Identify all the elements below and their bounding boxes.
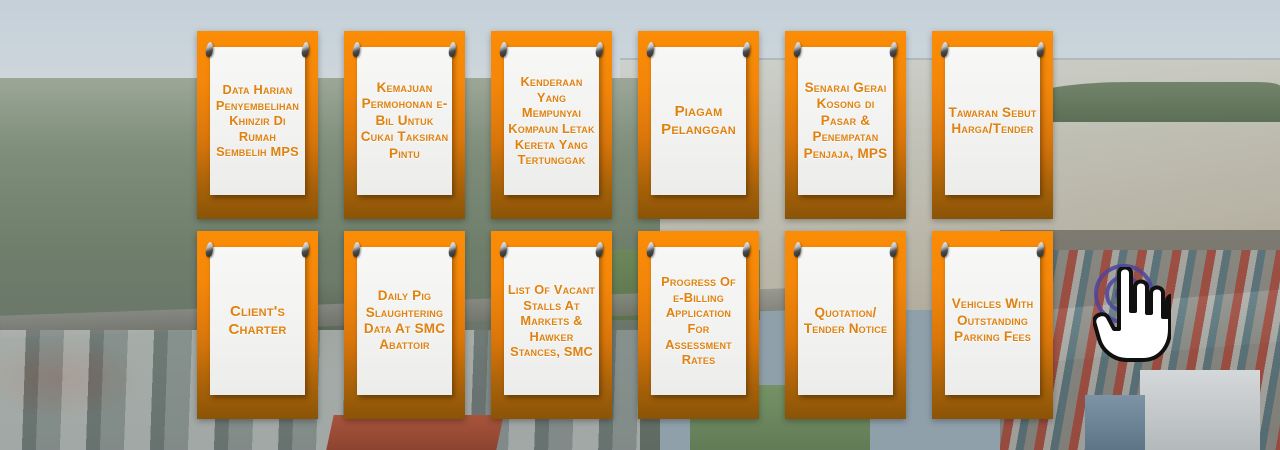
card-title: Client's Charter bbox=[213, 303, 302, 340]
quick-link-card-kenderaan-kompaun-letak-kereta[interactable]: Kenderaan Yang Mempunyai Kompaun Letak K… bbox=[491, 31, 612, 219]
pin-icon-right bbox=[889, 42, 898, 58]
quick-link-card-quotation-tender-notice[interactable]: Quotation/ Tender Notice bbox=[785, 231, 906, 419]
card-paper: Kenderaan Yang Mempunyai Kompaun Letak K… bbox=[504, 47, 599, 195]
card-paper: Daily Pig Slaughtering Data At SMC Abatt… bbox=[357, 247, 452, 395]
screen: Data Harian Penyembelihan Khinzir Di Rum… bbox=[0, 0, 1280, 450]
pin-icon-right bbox=[301, 42, 310, 58]
quick-link-card-piagam-pelanggan[interactable]: Piagam Pelanggan bbox=[638, 31, 759, 219]
pin-icon-right bbox=[889, 242, 898, 258]
card-paper: Vehicles With Outstanding Parking Fees bbox=[945, 247, 1040, 395]
card-title: Data Harian Penyembelihan Khinzir Di Rum… bbox=[213, 82, 302, 160]
pin-icon-right bbox=[301, 242, 310, 258]
card-title: Progress Of e-Billing Application For As… bbox=[654, 274, 743, 368]
card-paper: Client's Charter bbox=[210, 247, 305, 395]
pin-icon-right bbox=[448, 42, 457, 58]
pin-icon-right bbox=[1036, 242, 1045, 258]
quick-link-card-daily-pig-slaughtering[interactable]: Daily Pig Slaughtering Data At SMC Abatt… bbox=[344, 231, 465, 419]
pin-icon-right bbox=[742, 42, 751, 58]
pin-icon-right bbox=[448, 242, 457, 258]
card-title: Vehicles With Outstanding Parking Fees bbox=[948, 296, 1037, 345]
card-title: List Of Vacant Stalls At Markets & Hawke… bbox=[507, 282, 596, 360]
quick-link-card-clients-charter[interactable]: Client's Charter bbox=[197, 231, 318, 419]
pin-icon-right bbox=[742, 242, 751, 258]
card-title: Tawaran Sebut Harga/Tender bbox=[948, 105, 1037, 138]
quick-link-card-kemajuan-permohonan-ebil[interactable]: Kemajuan Permohonan e-Bil Untuk Cukai Ta… bbox=[344, 31, 465, 219]
card-title: Piagam Pelanggan bbox=[654, 103, 743, 140]
card-title: Quotation/ Tender Notice bbox=[801, 305, 890, 338]
card-paper: Data Harian Penyembelihan Khinzir Di Rum… bbox=[210, 47, 305, 195]
quick-link-card-data-harian-penyembelihan[interactable]: Data Harian Penyembelihan Khinzir Di Rum… bbox=[197, 31, 318, 219]
card-paper: Senarai Gerai Kosong di Pasar & Penempat… bbox=[798, 47, 893, 195]
card-paper: Progress Of e-Billing Application For As… bbox=[651, 247, 746, 395]
quick-link-card-tawaran-sebut-harga-tender[interactable]: Tawaran Sebut Harga/Tender bbox=[932, 31, 1053, 219]
card-title: Daily Pig Slaughtering Data At SMC Abatt… bbox=[360, 288, 449, 354]
card-title: Senarai Gerai Kosong di Pasar & Penempat… bbox=[801, 80, 890, 162]
pin-icon-right bbox=[595, 242, 604, 258]
card-title: Kemajuan Permohonan e-Bil Untuk Cukai Ta… bbox=[360, 80, 449, 162]
pin-icon-right bbox=[1036, 42, 1045, 58]
pin-icon-right bbox=[595, 42, 604, 58]
card-title: Kenderaan Yang Mempunyai Kompaun Letak K… bbox=[507, 74, 596, 168]
quick-link-card-list-of-vacant-stalls[interactable]: List Of Vacant Stalls At Markets & Hawke… bbox=[491, 231, 612, 419]
quick-link-card-senarai-gerai-kosong[interactable]: Senarai Gerai Kosong di Pasar & Penempat… bbox=[785, 31, 906, 219]
quick-link-card-vehicles-outstanding-parking-fees[interactable]: Vehicles With Outstanding Parking Fees bbox=[932, 231, 1053, 419]
card-paper: Piagam Pelanggan bbox=[651, 47, 746, 195]
card-paper: Kemajuan Permohonan e-Bil Untuk Cukai Ta… bbox=[357, 47, 452, 195]
quick-link-card-progress-of-ebilling[interactable]: Progress Of e-Billing Application For As… bbox=[638, 231, 759, 419]
card-paper: Tawaran Sebut Harga/Tender bbox=[945, 47, 1040, 195]
quick-link-card-grid: Data Harian Penyembelihan Khinzir Di Rum… bbox=[0, 0, 1280, 450]
card-paper: List Of Vacant Stalls At Markets & Hawke… bbox=[504, 247, 599, 395]
card-paper: Quotation/ Tender Notice bbox=[798, 247, 893, 395]
